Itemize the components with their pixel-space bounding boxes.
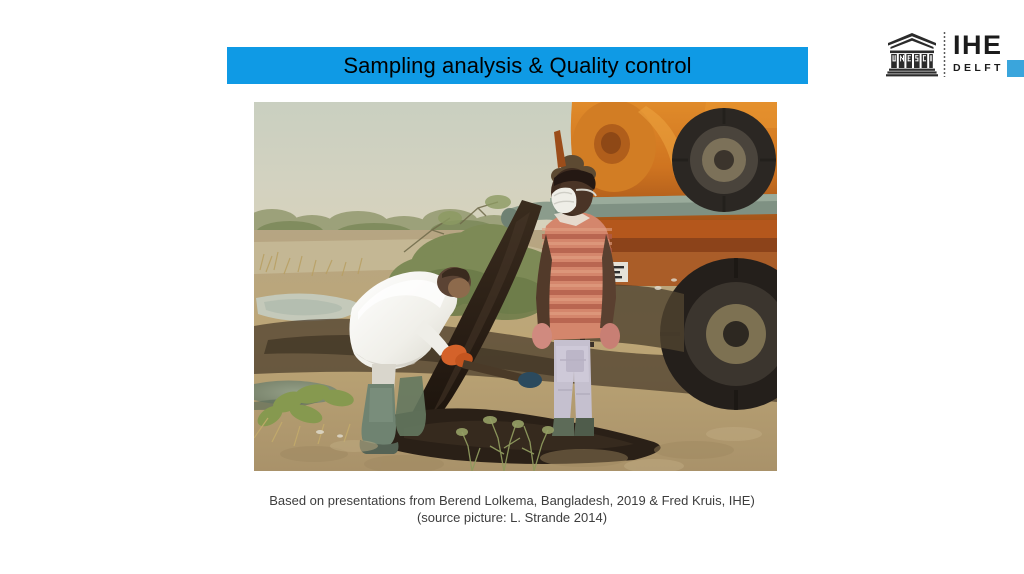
logo-blue-square-icon — [1007, 60, 1024, 77]
slide-photograph — [254, 102, 777, 471]
slide-caption: Based on presentations from Berend Lolke… — [154, 492, 870, 526]
logo-brand-main: IHE — [953, 33, 1024, 59]
page-title: Sampling analysis & Quality control — [343, 55, 691, 77]
ihe-delft-wordmark: IHE DELFT — [953, 31, 1024, 77]
unesco-temple-icon — [886, 31, 938, 77]
logo-dotted-divider-icon — [943, 31, 946, 77]
slide-canvas: Sampling analysis & Quality control — [0, 0, 1024, 574]
ihe-delft-unesco-logo: IHE DELFT — [886, 28, 1018, 80]
caption-line-1: Based on presentations from Berend Lolke… — [154, 492, 870, 509]
slide-title-band: Sampling analysis & Quality control — [227, 47, 808, 84]
logo-brand-sub: DELFT — [953, 63, 1004, 74]
caption-line-2: (source picture: L. Strande 2014) — [154, 509, 870, 526]
